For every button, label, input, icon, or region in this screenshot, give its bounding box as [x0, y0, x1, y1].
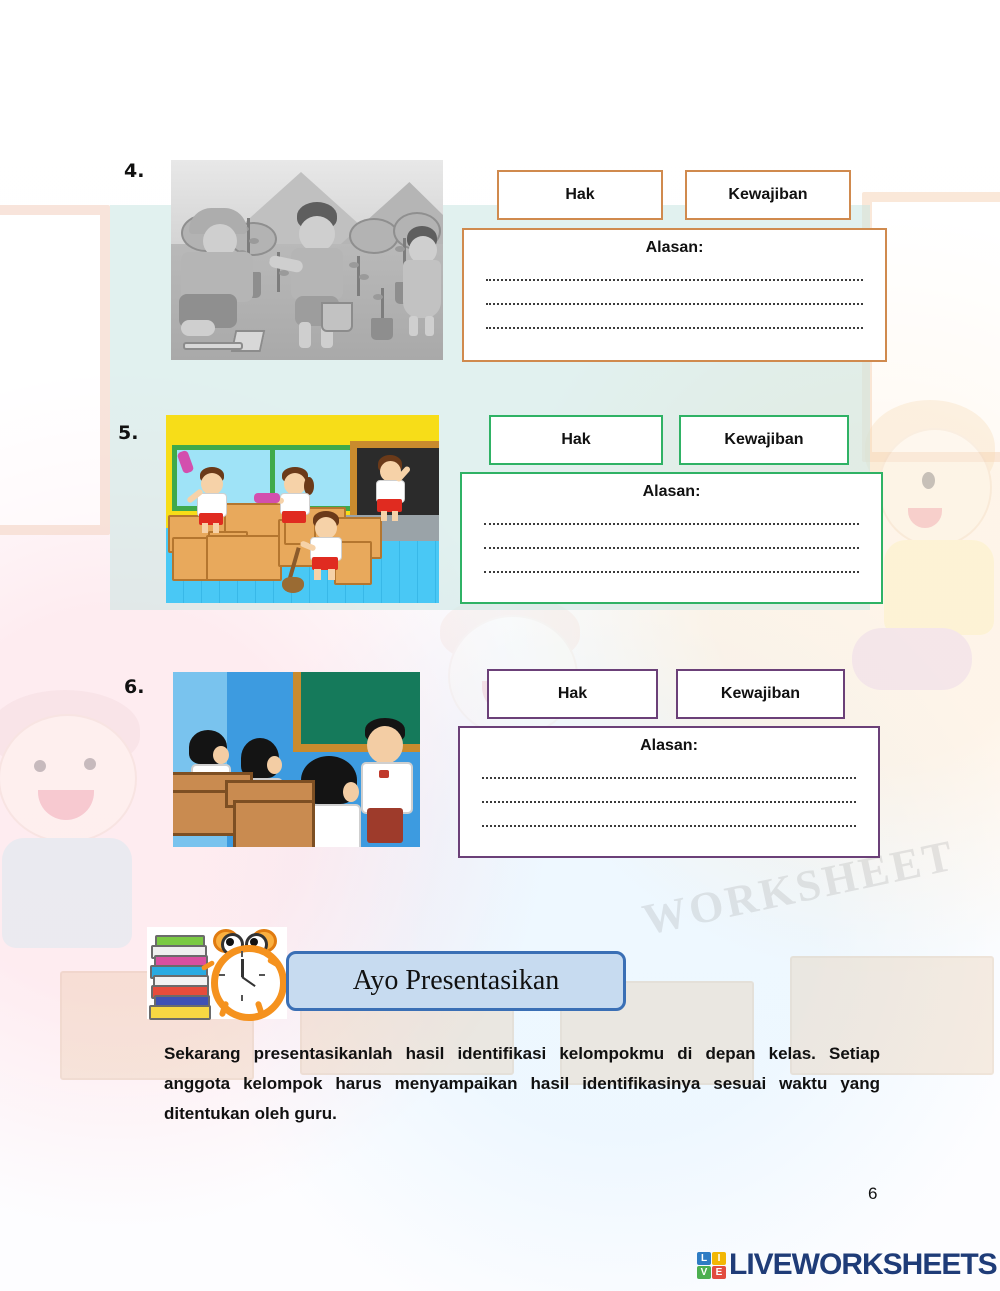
choice-label: Hak	[558, 685, 587, 703]
question-4-choice-kewajiban[interactable]: Kewajiban	[685, 170, 851, 220]
choice-label: Hak	[565, 186, 594, 204]
ayo-presentasikan-banner: Ayo Presentasikan	[286, 951, 626, 1011]
logo-block-l: L	[697, 1252, 711, 1265]
question-6-choice-kewajiban[interactable]: Kewajiban	[676, 669, 845, 719]
banner-label: Ayo Presentasikan	[353, 965, 560, 997]
logo-block-e: E	[712, 1266, 726, 1279]
illustration-figure-girl	[399, 226, 443, 344]
desk-cloth	[254, 493, 280, 503]
presentation-instruction: Sekarang presentasikanlah hasil identifi…	[164, 1039, 880, 1129]
logo-blocks-icon: L I V E	[697, 1252, 726, 1279]
question-4-reason-box[interactable]: Alasan:	[462, 228, 887, 362]
illustration-figure-adult	[179, 208, 259, 338]
question-number-5: 5.	[118, 422, 138, 444]
question-4-choice-hak[interactable]: Hak	[497, 170, 663, 220]
question-5-illustration	[166, 415, 439, 603]
answer-line[interactable]	[484, 570, 859, 573]
reason-label: Alasan:	[464, 239, 885, 257]
logo-block-i: I	[712, 1252, 726, 1265]
liveworksheets-logo: L I V E LIVEWORKSHEETS	[697, 1248, 997, 1282]
student-erasing-blackboard	[372, 455, 412, 521]
alarm-clock-icon	[203, 927, 287, 1019]
reason-label: Alasan:	[462, 483, 881, 501]
presenting-student	[359, 718, 415, 843]
illustration-axe-handle	[183, 342, 243, 350]
question-number-6: 6.	[124, 676, 144, 698]
student-sweeping-floor	[306, 511, 350, 579]
books-and-clock-clipart	[147, 927, 287, 1019]
page-number: 6	[868, 1184, 877, 1204]
broom-head	[282, 577, 304, 593]
choice-label: Kewajiban	[724, 431, 803, 449]
logo-block-v: V	[697, 1266, 711, 1279]
question-6-choice-hak[interactable]: Hak	[487, 669, 658, 719]
student-cleaning-window	[194, 467, 236, 531]
answer-line[interactable]	[486, 326, 863, 329]
question-6-reason-box[interactable]: Alasan:	[458, 726, 880, 858]
answer-line[interactable]	[482, 824, 856, 827]
question-5-choice-kewajiban[interactable]: Kewajiban	[679, 415, 849, 465]
choice-label: Kewajiban	[728, 186, 807, 204]
question-number-4: 4.	[124, 160, 144, 182]
logo-wordmark: LIVEWORKSHEETS	[729, 1248, 997, 1282]
question-5-choice-hak[interactable]: Hak	[489, 415, 663, 465]
choice-label: Kewajiban	[721, 685, 800, 703]
illustration-bucket	[321, 302, 353, 332]
question-6-illustration	[173, 672, 420, 847]
reason-label: Alasan:	[460, 737, 878, 755]
question-5-reason-box[interactable]: Alasan:	[460, 472, 883, 604]
book-stack-icon	[149, 935, 211, 1017]
question-4-illustration	[171, 160, 443, 360]
choice-label: Hak	[561, 431, 590, 449]
